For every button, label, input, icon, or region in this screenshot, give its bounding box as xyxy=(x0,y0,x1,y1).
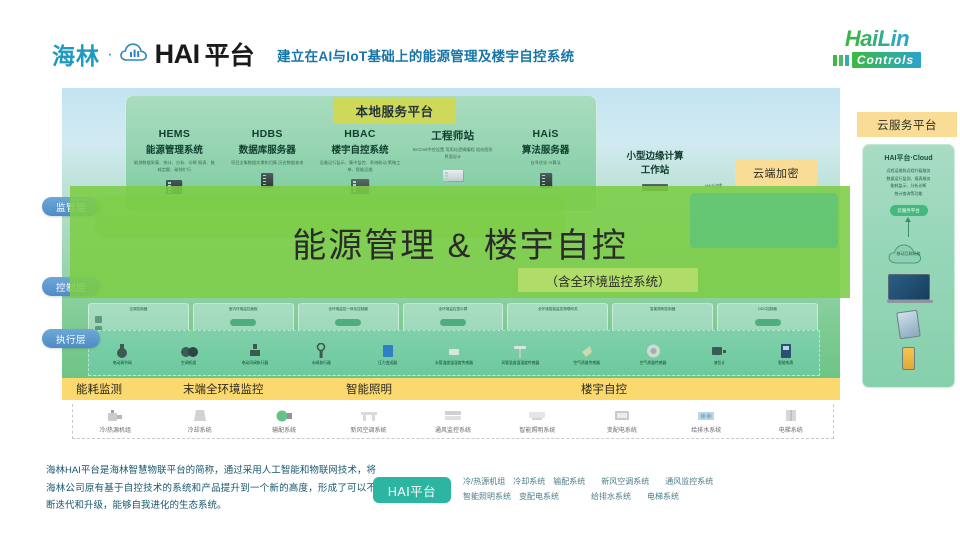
exec-device[interactable]: 压力变送器 xyxy=(354,341,420,366)
system-item[interactable]: 输配系统 xyxy=(242,404,326,438)
cloud-chart-icon xyxy=(120,42,150,66)
system-item[interactable]: 通风监控系统 xyxy=(411,404,495,438)
edge-computing-workstation: 小型边缘计算 工作站 xyxy=(609,150,701,191)
brand-bars-icon xyxy=(833,55,849,66)
exec-label: 风管温度温湿度传感器 xyxy=(487,361,553,366)
column-name: 楼宇自控系统 xyxy=(314,142,407,156)
system-item[interactable]: 冷却系统 xyxy=(157,404,241,438)
system-label: 电梯系统 xyxy=(749,425,833,434)
system-item[interactable]: 电梯系统 xyxy=(749,404,833,438)
cloud-network-label: 移动互联网络 xyxy=(886,251,932,257)
column-desc: 自寻优化 AI算法 xyxy=(499,160,592,167)
logo-separator-dot: · xyxy=(107,44,113,64)
ahu-unit-icon xyxy=(155,341,221,359)
damper-actuator-icon xyxy=(222,341,288,359)
system-label: 冷/热源机组 xyxy=(73,425,157,434)
power-icon xyxy=(580,406,664,423)
exec-device[interactable]: 空气质量传感器 xyxy=(620,341,686,366)
card-top-label: 全环境监控一体化控制器 xyxy=(328,307,368,312)
footer-system-line-1: 冷/热源机组 冷却系统 输配系统 新风空调系统 通风监控系统 xyxy=(463,475,883,490)
system-label: 输配系统 xyxy=(242,425,326,434)
exec-label: 空气质量传感器 xyxy=(554,361,620,366)
card-top-label: 智能照明控制器 xyxy=(650,307,675,312)
supervision-column[interactable]: HEMS 能源管理系统 能源数据采集、统计、分析、诊断 报表、能耗定额、碳排扩行 xyxy=(128,128,221,194)
system-label: 给排水系统 xyxy=(664,425,748,434)
system-item[interactable]: 新风空调系统 xyxy=(326,404,410,438)
column-code: HAiS xyxy=(499,128,592,140)
hai-platform-logo: 海林 · HAI 平台 xyxy=(52,36,255,72)
phone-icon xyxy=(902,347,915,370)
uplink-arrow-icon xyxy=(908,221,909,237)
system-item[interactable]: 智能照明系统 xyxy=(495,404,579,438)
ahu-icon xyxy=(326,406,410,423)
cloud-title: HAI平台·Cloud xyxy=(863,153,954,163)
cloud-platform-column: HAI平台·Cloud 远程运维和远程升级服务 数据运行监测、报表服务 能耗监示… xyxy=(862,144,955,388)
laptop-icon xyxy=(887,274,931,303)
duct-temp-sensor-icon xyxy=(487,341,553,359)
cloud-encryption-badge: 云端加密 xyxy=(735,160,817,186)
exec-label: 空调机组 xyxy=(155,361,221,366)
column-desc: 项目全集数据实景和归集 历史数据查询 xyxy=(221,160,314,167)
exec-label: 水阀执行器 xyxy=(288,361,354,366)
exec-device[interactable]: 水阀执行器 xyxy=(288,341,354,366)
workstation-icon xyxy=(406,165,499,181)
hai-wordmark: HAI xyxy=(155,39,200,70)
system-item[interactable]: 冷/热源机组 xyxy=(73,404,157,438)
system-item[interactable]: 给排水系统 xyxy=(664,404,748,438)
category-bar xyxy=(62,378,840,400)
exec-device[interactable]: 液位计 xyxy=(686,341,752,366)
execution-layer-strip: 电动调节阀 空调机组 电动风阀执行器 水阀执行器 压力变送器 xyxy=(88,330,820,376)
overlay-subtitle: （含全环境监控系统） xyxy=(518,268,698,292)
overlay-title: 能源管理 & 楼宇自控 xyxy=(70,218,850,267)
hailin-cn-text: 海林 xyxy=(52,37,100,71)
controls-brand-text: Controls xyxy=(852,52,921,68)
card-top-label: 空调控制器 xyxy=(129,307,147,312)
column-code: 工程师站 xyxy=(406,128,499,143)
column-desc: 设备运行监示、集中监控、系统联动 策略工单、智能运维 xyxy=(314,160,407,173)
exec-label: 电动调节阀 xyxy=(89,361,155,366)
exec-device[interactable]: 风管温度温湿度传感器 xyxy=(487,341,553,366)
water-temp-sensor-icon xyxy=(421,341,487,359)
exec-label: 智能电表 xyxy=(753,361,819,366)
cloud-desc: 远程运维和远程升级服务 数据运行监测、报表服务 能耗监示、分析诊断 统计查询等功… xyxy=(863,167,954,197)
exec-label: 压力变送器 xyxy=(354,361,420,366)
exec-device[interactable]: 电动调节阀 xyxy=(89,341,155,366)
hai-platform-badge[interactable]: HAI平台 xyxy=(373,477,451,503)
hailin-controls-logo: HaiLin Controls xyxy=(816,28,938,68)
category-label-bas[interactable]: 楼宇自控 xyxy=(581,381,627,397)
layer-badge-execution[interactable]: 执行层 xyxy=(42,329,100,348)
smart-meter-icon xyxy=(753,341,819,359)
supervision-columns: HEMS 能源管理系统 能源数据采集、统计、分析、诊断 报表、能耗定额、碳排扩行… xyxy=(128,128,592,194)
water-icon xyxy=(664,406,748,423)
pressure-transmitter-icon xyxy=(354,341,420,359)
supervision-column[interactable]: HBAC 楼宇自控系统 设备运行监示、集中监控、系统联动 策略工单、智能运维 xyxy=(314,128,407,194)
supervision-column[interactable]: 工程师站 BACnet中控设置 用用化逻辑编程 组态图形界面设计 xyxy=(406,128,499,194)
footer-system-line-2: 智能照明系统 变配电系统 给排水系统 电梯系统 xyxy=(463,490,883,505)
column-desc: 能源数据采集、统计、分析、诊断 报表、能耗定额、碳排扩行 xyxy=(128,160,221,173)
supervision-column[interactable]: HAiS 算法服务器 自寻优化 AI算法 xyxy=(499,128,592,194)
column-name: 能源管理系统 xyxy=(128,142,221,156)
exec-label: 液位计 xyxy=(686,361,752,366)
air-quality-sensor-icon xyxy=(554,341,620,359)
system-label: 通风监控系统 xyxy=(411,425,495,434)
card-top-label: 全环境监控显示屏 xyxy=(439,307,468,312)
pump-icon xyxy=(242,406,326,423)
card-top-label: DDC控制器 xyxy=(758,307,777,312)
exec-label: 空气质量传感器 xyxy=(620,361,686,366)
category-label-energy[interactable]: 能耗监测 xyxy=(76,381,122,397)
page-title: 建立在AI与IoT基础上的能源管理及楼宇自控系统 xyxy=(277,45,574,65)
exec-device[interactable]: 电动风阀执行器 xyxy=(222,341,288,366)
column-code: HBAC xyxy=(314,128,407,140)
platform-cn-wordmark: 平台 xyxy=(205,36,255,72)
exec-label: 电动风阀执行器 xyxy=(222,361,288,366)
system-label: 智能照明系统 xyxy=(495,425,579,434)
valve-icon xyxy=(89,341,155,359)
column-code: HDBS xyxy=(221,128,314,140)
system-label: 冷却系统 xyxy=(157,425,241,434)
slide-canvas: 海林 · HAI 平台 建立在AI与IoT基础上的能源管理及楼宇自控系统 Hai… xyxy=(0,0,960,540)
edge-label: 小型边缘计算 工作站 xyxy=(609,150,701,178)
card-top-label: 全环境智能监控物联网关 xyxy=(538,307,578,312)
exec-label: 水管温度温湿度传感器 xyxy=(421,361,487,366)
cooling-tower-icon xyxy=(157,406,241,423)
footer-system-list: 冷/热源机组 冷却系统 输配系统 新风空调系统 通风监控系统 智能照明系统 变配… xyxy=(463,475,883,505)
category-label-lighting[interactable]: 智能照明 xyxy=(346,381,392,397)
supervision-column[interactable]: HDBS 数据库服务器 项目全集数据实景和归集 历史数据查询 xyxy=(221,128,314,194)
mobile-network-cloud-icon: 移动互联网络 xyxy=(886,242,932,266)
exec-device[interactable]: 空气质量传感器 xyxy=(554,341,620,366)
exec-device[interactable]: 水管温度温湿度传感器 xyxy=(421,341,487,366)
local-platform-badge: 本地服务平台 xyxy=(333,97,456,124)
hailin-brand-text: HaiLin xyxy=(816,28,938,50)
exec-device[interactable]: 空调机组 xyxy=(155,341,221,366)
ventilation-icon xyxy=(411,406,495,423)
system-label: 新风空调系统 xyxy=(326,425,410,434)
exec-device[interactable]: 智能电表 xyxy=(753,341,819,366)
card-top-label: 室内环境监控面板 xyxy=(229,307,258,312)
system-item[interactable]: 变配电系统 xyxy=(580,404,664,438)
level-gauge-icon xyxy=(686,341,752,359)
cloud-service-badge: 云服务平台 xyxy=(857,112,957,137)
systems-row: 冷/热源机组 冷却系统 输配系统 新风空调系统 通风监控系统 xyxy=(72,404,834,439)
footer-description: 海林HAI平台是海林智慧物联平台的简称，通过采用人工智能和物联网技术，将海林公司… xyxy=(46,462,376,515)
column-desc: BACnet中控设置 用用化逻辑编程 组态图形界面设计 xyxy=(406,147,499,160)
air-quality-sensor-round-icon xyxy=(620,341,686,359)
column-code: HEMS xyxy=(128,128,221,140)
lighting-icon xyxy=(495,406,579,423)
chiller-icon xyxy=(73,406,157,423)
column-name: 数据库服务器 xyxy=(221,142,314,156)
system-label: 变配电系统 xyxy=(580,425,664,434)
column-name: 算法服务器 xyxy=(499,142,592,156)
tablet-icon xyxy=(896,310,921,340)
elevator-icon xyxy=(749,406,833,423)
water-valve-icon xyxy=(288,341,354,359)
category-label-terminal[interactable]: 末端全环境监控 xyxy=(183,381,264,397)
cloud-service-pill: 云服务平台 xyxy=(890,205,928,216)
